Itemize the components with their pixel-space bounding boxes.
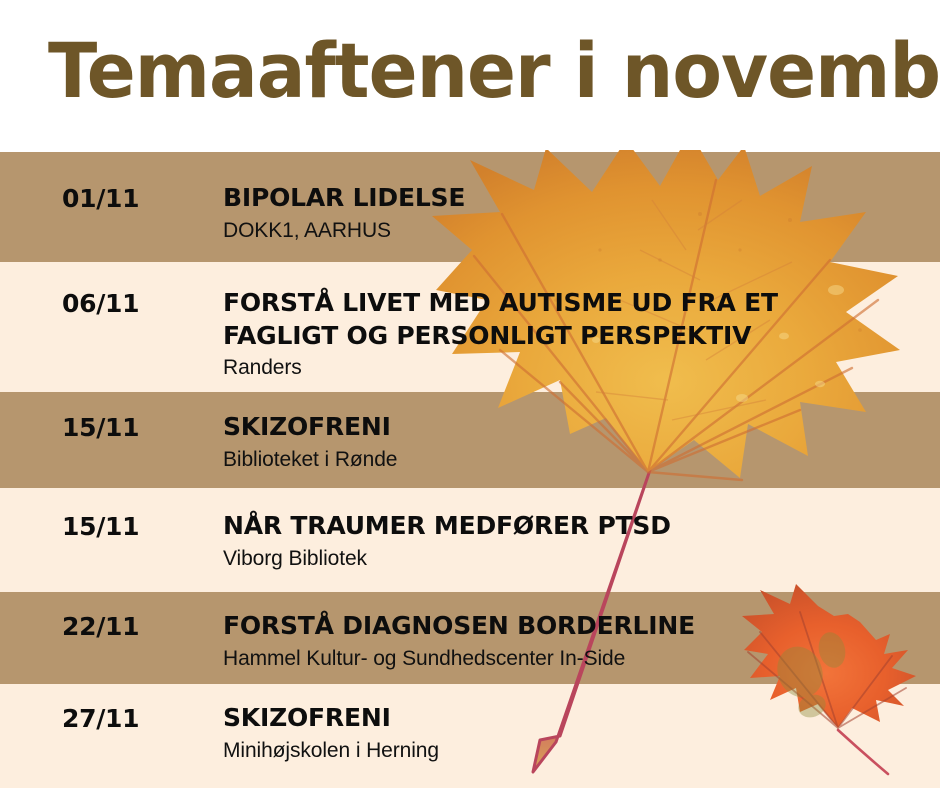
event-title-line2: FAGLIGT OG PERSONLIGT PERSPEKTIV — [223, 320, 930, 353]
table-row: 15/11 SKIZOFRENI Biblioteket i Rønde — [0, 392, 940, 488]
table-row: 27/11 SKIZOFRENI Minihøjskolen i Herning — [0, 684, 940, 788]
header: Temaaftener i november — [0, 0, 940, 150]
event-details: FORSTÅ DIAGNOSEN BORDERLINE Hammel Kultu… — [223, 610, 930, 672]
event-venue: Hammel Kultur- og Sundhedscenter In-Side — [223, 645, 930, 672]
event-details: NÅR TRAUMER MEDFØRER PTSD Viborg Bibliot… — [223, 510, 930, 572]
event-date: 15/11 — [62, 413, 139, 442]
event-date: 06/11 — [62, 289, 139, 318]
event-venue: Randers — [223, 354, 930, 381]
table-row: 06/11 FORSTÅ LIVET MED AUTISME UD FRA ET… — [0, 262, 940, 392]
event-details: SKIZOFRENI Biblioteket i Rønde — [223, 411, 930, 473]
event-date: 22/11 — [62, 612, 139, 641]
event-title: BIPOLAR LIDELSE — [223, 182, 930, 215]
event-details: SKIZOFRENI Minihøjskolen i Herning — [223, 702, 930, 764]
event-title: FORSTÅ DIAGNOSEN BORDERLINE — [223, 610, 930, 643]
event-venue: DOKK1, AARHUS — [223, 217, 930, 244]
event-title: SKIZOFRENI — [223, 702, 930, 735]
event-date: 27/11 — [62, 704, 139, 733]
event-venue: Minihøjskolen i Herning — [223, 737, 930, 764]
page-title: Temaaftener i november — [48, 26, 940, 115]
table-row: 22/11 FORSTÅ DIAGNOSEN BORDERLINE Hammel… — [0, 592, 940, 684]
event-venue: Viborg Bibliotek — [223, 545, 930, 572]
event-venue: Biblioteket i Rønde — [223, 446, 930, 473]
event-date: 01/11 — [62, 184, 139, 213]
event-details: BIPOLAR LIDELSE DOKK1, AARHUS — [223, 182, 930, 244]
table-row: 15/11 NÅR TRAUMER MEDFØRER PTSD Viborg B… — [0, 488, 940, 592]
poster: 01/11 BIPOLAR LIDELSE DOKK1, AARHUS 06/1… — [0, 0, 940, 788]
event-title: FORSTÅ LIVET MED AUTISME UD FRA ET — [223, 287, 930, 320]
event-title: NÅR TRAUMER MEDFØRER PTSD — [223, 510, 930, 543]
event-details: FORSTÅ LIVET MED AUTISME UD FRA ET FAGLI… — [223, 287, 930, 381]
table-row: 01/11 BIPOLAR LIDELSE DOKK1, AARHUS — [0, 152, 940, 262]
event-date: 15/11 — [62, 512, 139, 541]
event-title: SKIZOFRENI — [223, 411, 930, 444]
